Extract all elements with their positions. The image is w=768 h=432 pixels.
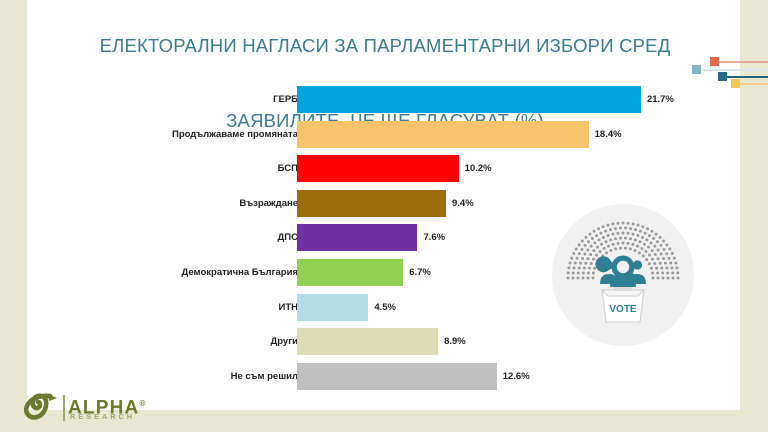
title-line-1: ЕЛЕКТОРАЛНИ НАГЛАСИ ЗА ПАРЛАМЕНТАРНИ ИЗБ… [100, 35, 671, 56]
logo-subtitle: RESEARCH [70, 413, 135, 421]
logo-registered-mark: ® [139, 399, 146, 408]
alpha-glyph-icon [20, 392, 62, 422]
chart-row: ДПС7.6% [27, 224, 740, 251]
logo-divider [63, 395, 65, 421]
bar[interactable] [297, 294, 368, 321]
bar-category-label: ГЕРБ [273, 86, 298, 113]
bar[interactable] [297, 259, 403, 286]
bar-value-label: 21.7% [647, 86, 674, 113]
chart-row: Възраждане9.4% [27, 190, 740, 217]
chart-row: ИТН4.5% [27, 294, 740, 321]
bar-category-label: Други [270, 328, 298, 355]
chart-row: Не съм решил12.6% [27, 363, 740, 390]
corner-accent-marks-icon [692, 50, 768, 84]
bar[interactable] [297, 121, 589, 148]
bar-value-label: 9.4% [452, 190, 474, 217]
bar-value-label: 8.9% [444, 328, 466, 355]
bar[interactable] [297, 86, 641, 113]
accent-line-4 [740, 83, 768, 85]
bar-value-label: 4.5% [374, 294, 396, 321]
accent-square-blue [692, 65, 701, 74]
accent-line-1 [701, 69, 768, 71]
bar-value-label: 12.6% [503, 363, 530, 390]
bar[interactable] [297, 190, 446, 217]
bar-category-label: ИТН [279, 294, 299, 321]
bar-value-label: 6.7% [409, 259, 431, 286]
chart-row: Продължаваме промяната18.4% [27, 121, 740, 148]
chart-row: Други8.9% [27, 328, 740, 355]
chart-row: БСП10.2% [27, 155, 740, 182]
bar-category-label: Не съм решил [231, 363, 298, 390]
bar[interactable] [297, 224, 417, 251]
slide-canvas: ЕЛЕКТОРАЛНИ НАГЛАСИ ЗА ПАРЛАМЕНТАРНИ ИЗБ… [0, 0, 768, 432]
accent-square-salmon [710, 57, 719, 66]
alpha-research-logo: ALPHA® RESEARCH [20, 392, 148, 428]
bar-value-label: 7.6% [423, 224, 445, 251]
bar-category-label: Продължаваме промяната [172, 121, 298, 148]
bar-value-label: 10.2% [465, 155, 492, 182]
bar-category-label: ДПС [278, 224, 298, 251]
bar[interactable] [297, 363, 497, 390]
chart-row: ГЕРБ21.7% [27, 86, 740, 113]
accent-square-teal [718, 72, 727, 81]
bar-value-label: 18.4% [595, 121, 622, 148]
bar[interactable] [297, 155, 459, 182]
bar-chart: ГЕРБ21.7%Продължаваме промяната18.4%БСП1… [27, 86, 740, 406]
bar[interactable] [297, 328, 438, 355]
bar-category-label: БСП [278, 155, 298, 182]
bar-category-label: Възраждане [239, 190, 298, 217]
accent-line-2 [719, 61, 768, 63]
chart-row: Демократична България6.7% [27, 259, 740, 286]
accent-line-3 [727, 76, 768, 78]
bar-category-label: Демократична България [182, 259, 298, 286]
